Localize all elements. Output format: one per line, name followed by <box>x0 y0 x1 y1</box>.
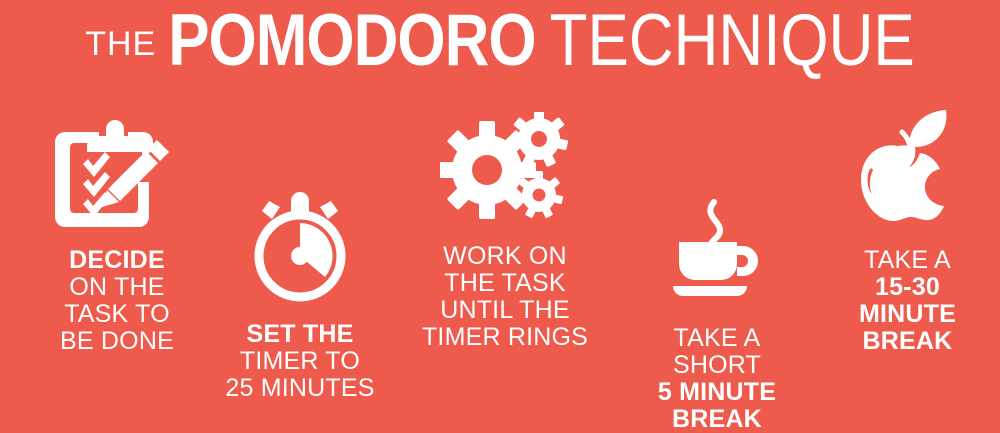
apple-bitten-icon <box>853 108 963 229</box>
clipboard-checklist-pencil-icon <box>53 118 181 235</box>
step-line-bold: TIMER <box>240 347 319 375</box>
coffee-cup-steam-icon <box>667 196 767 307</box>
step-line: 5 MINUTE <box>658 379 776 406</box>
step-set-timer: SET THE TIMER TO 25 MINUTES <box>205 190 395 402</box>
step-line: TIMER TO <box>225 348 374 375</box>
step-line: BREAK <box>859 328 956 355</box>
step-work-text: WORK ON THE TASK UNTIL THE TIMER RINGS <box>422 243 588 351</box>
step-short-break: TAKE A SHORT 5 MINUTE BREAK <box>622 196 812 433</box>
step-decide-text: DECIDE ON THE TASK TO BE DONE <box>60 247 174 355</box>
step-line: SET THE <box>225 321 374 348</box>
step-line: 15-30 <box>859 274 956 301</box>
step-line-light: ON <box>529 242 567 270</box>
step-line: UNTIL THE <box>422 297 588 324</box>
title-the: THE <box>85 27 156 61</box>
step-line-light: TO <box>325 347 360 375</box>
step-decide: DECIDE ON THE TASK TO BE DONE <box>22 118 212 355</box>
gears-cogs-icon <box>440 112 570 229</box>
step-line: SHORT <box>658 352 776 379</box>
step-line: TIMER RINGS <box>422 324 588 351</box>
title-technique: TECHNIQUE <box>550 5 915 78</box>
step-line: TAKE A <box>658 325 776 352</box>
step-line: WORK ON <box>422 243 588 270</box>
step-line: TAKE A <box>859 247 956 274</box>
step-long-break-text: TAKE A 15-30 MINUTE BREAK <box>859 247 956 355</box>
pomodoro-infographic: THE POMODORO TECHNIQUE <box>0 0 1000 420</box>
step-line: MINUTE <box>859 301 956 328</box>
step-set-timer-text: SET THE TIMER TO 25 MINUTES <box>225 321 374 402</box>
step-line: TASK TO <box>60 301 174 328</box>
step-line: DECIDE <box>60 247 174 274</box>
step-line: BE DONE <box>60 328 174 355</box>
step-line-bold: WORK <box>443 242 522 270</box>
step-line: THE TASK <box>422 270 588 297</box>
step-work: WORK ON THE TASK UNTIL THE TIMER RINGS <box>400 112 610 351</box>
step-long-break: TAKE A 15-30 MINUTE BREAK <box>815 108 1000 355</box>
step-line: 25 MINUTES <box>225 375 374 402</box>
step-line: ON THE <box>60 274 174 301</box>
page-title: THE POMODORO TECHNIQUE <box>0 16 1000 82</box>
title-pomodoro: POMODORO <box>168 5 535 78</box>
step-short-break-text: TAKE A SHORT 5 MINUTE BREAK <box>658 325 776 433</box>
stopwatch-timer-icon <box>245 190 355 307</box>
